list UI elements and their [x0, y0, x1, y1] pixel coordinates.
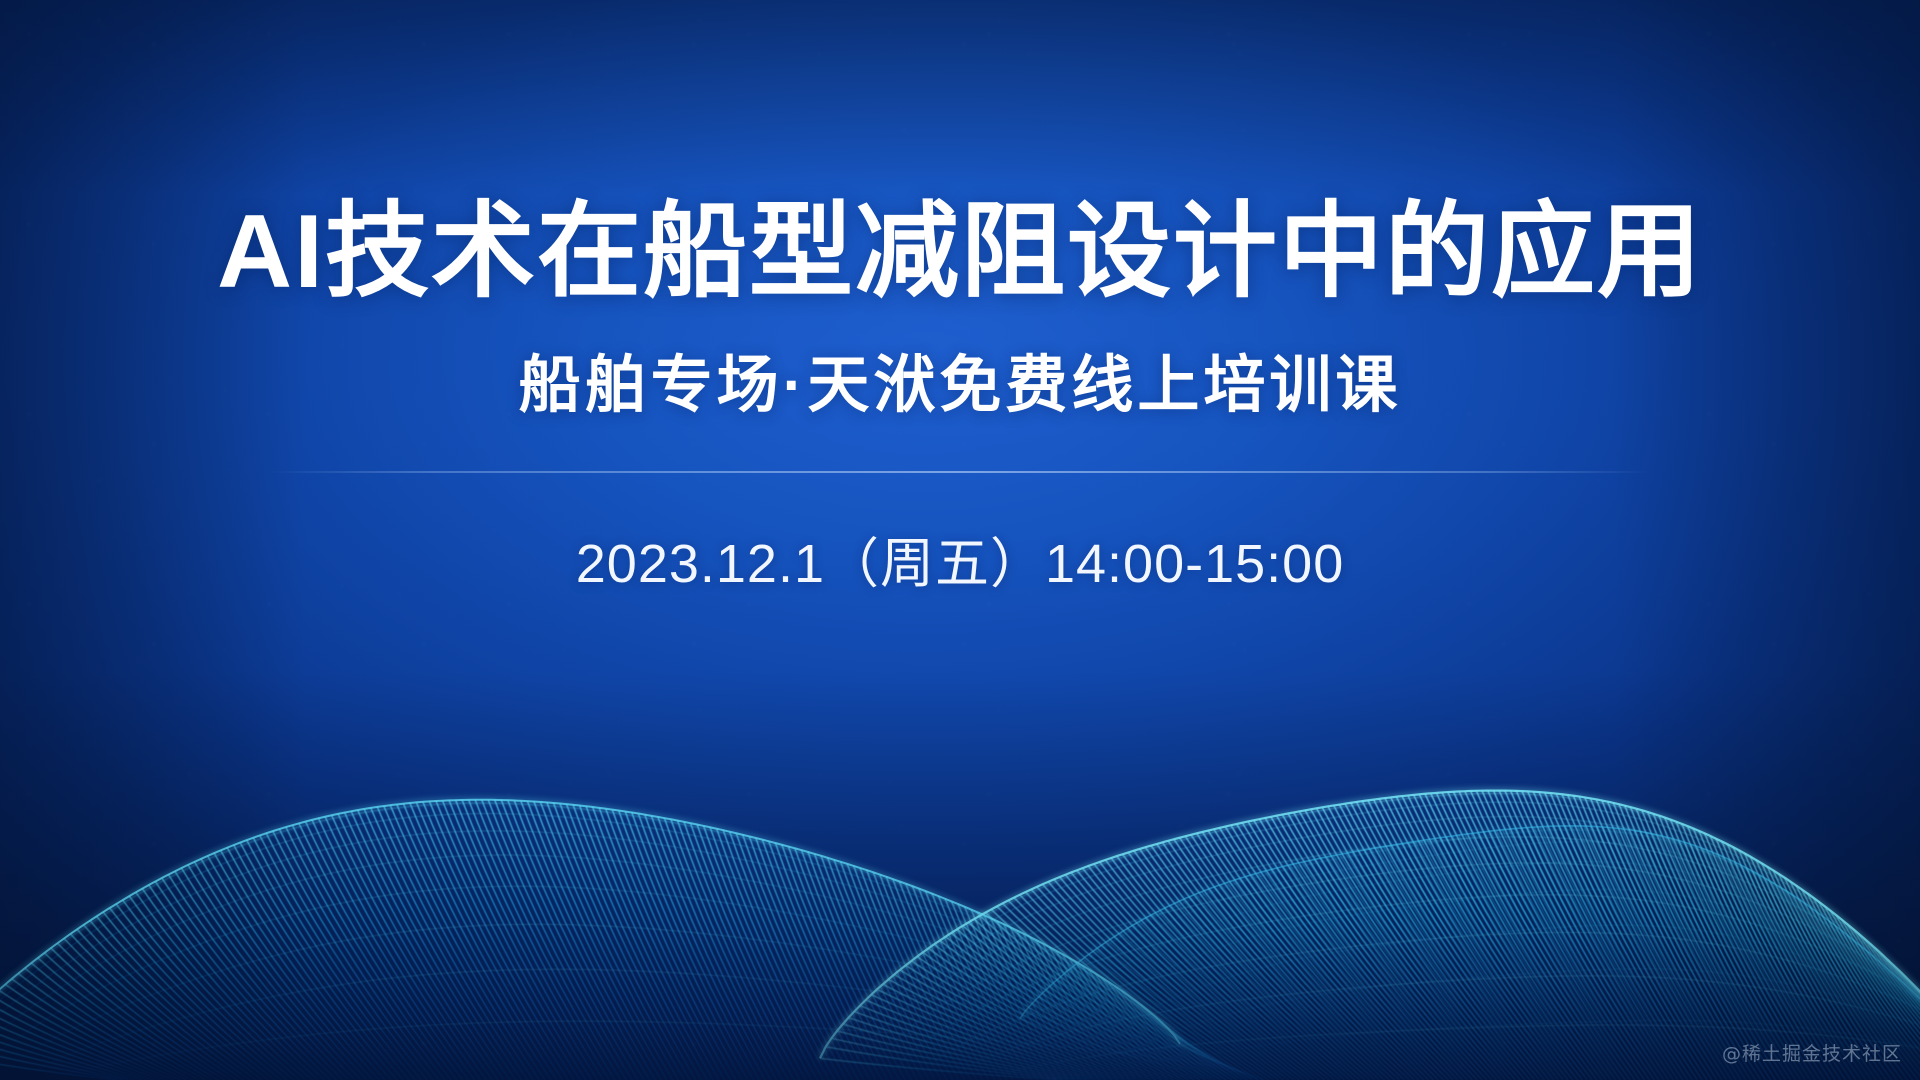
event-poster: AI技术在船型减阻设计中的应用 船舶专场·天洑免费线上培训课 2023.12.1…	[0, 0, 1920, 1080]
divider-line	[270, 471, 1650, 473]
event-datetime: 2023.12.1（周五）14:00-15:00	[576, 519, 1344, 598]
watermark-label: @稀土掘金技术社区	[1722, 1039, 1902, 1066]
poster-content: AI技术在船型减阻设计中的应用 船舶专场·天洑免费线上培训课 2023.12.1…	[0, 0, 1920, 1080]
poster-subtitle: 船舶专场·天洑免费线上培训课	[519, 352, 1402, 420]
poster-title: AI技术在船型减阻设计中的应用	[217, 196, 1703, 308]
